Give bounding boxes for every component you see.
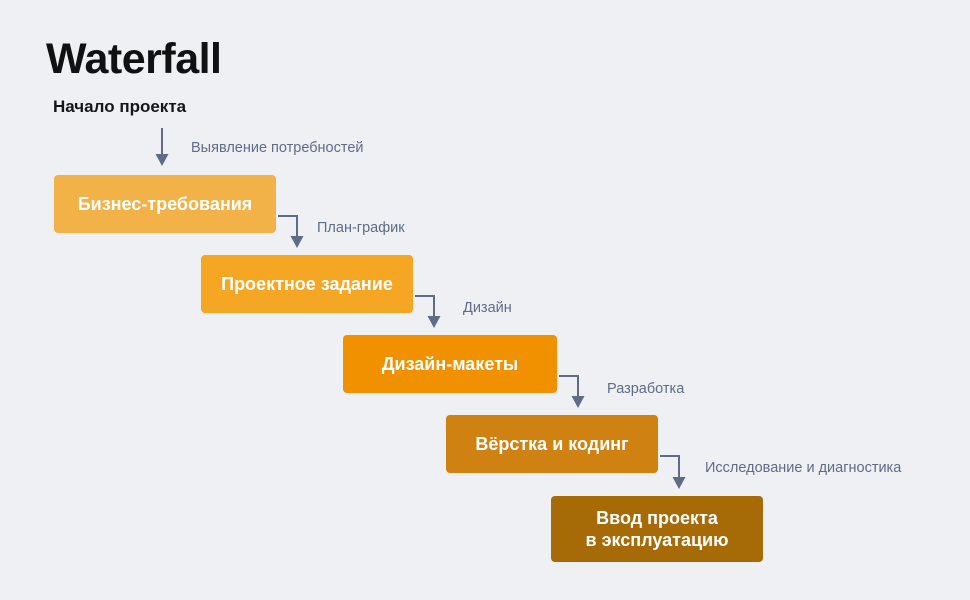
stage-box-business-requirements[interactable]: Бизнес-требования [54,175,276,233]
stage-label-project-launch: Ввод проекта в эксплуатацию [576,507,739,552]
connector-business-requirements-to-project-assignment [276,206,322,250]
page-title: Waterfall [46,38,222,81]
connector-project-assignment-to-design-mockups [413,286,459,330]
connector-design-mockups-to-markup-and-coding [557,366,603,410]
connector-label-design-mockups-to-markup-and-coding: Разработка [607,382,684,397]
stage-label-project-assignment: Проектное задание [211,273,403,296]
stage-label-design-mockups: Дизайн-макеты [372,353,529,376]
stage-label-markup-and-coding: Вёрстка и кодинг [465,433,638,456]
connector-markup-and-coding-to-project-launch [658,446,704,492]
stage-box-markup-and-coding[interactable]: Вёрстка и кодинг [446,415,658,473]
stage-box-design-mockups[interactable]: Дизайн-макеты [343,335,557,393]
stage-box-project-launch[interactable]: Ввод проекта в эксплуатацию [551,496,763,562]
connector-label-business-requirements-to-project-assignment: План-график [317,221,405,236]
connector-label-markup-and-coding-to-project-launch: Исследование и диагностика [705,461,901,476]
connector-start-to-business-requirements [150,126,180,170]
diagram-start-label: Начало проекта [53,98,186,115]
stage-box-project-assignment[interactable]: Проектное задание [201,255,413,313]
connector-label-project-assignment-to-design-mockups: Дизайн [463,301,512,316]
diagram-canvas: Waterfall Начало проекта Выявление потре… [0,0,970,600]
connector-label-start-to-business-requirements: Выявление потребностей [191,141,364,156]
stage-label-business-requirements: Бизнес-требования [68,193,263,216]
